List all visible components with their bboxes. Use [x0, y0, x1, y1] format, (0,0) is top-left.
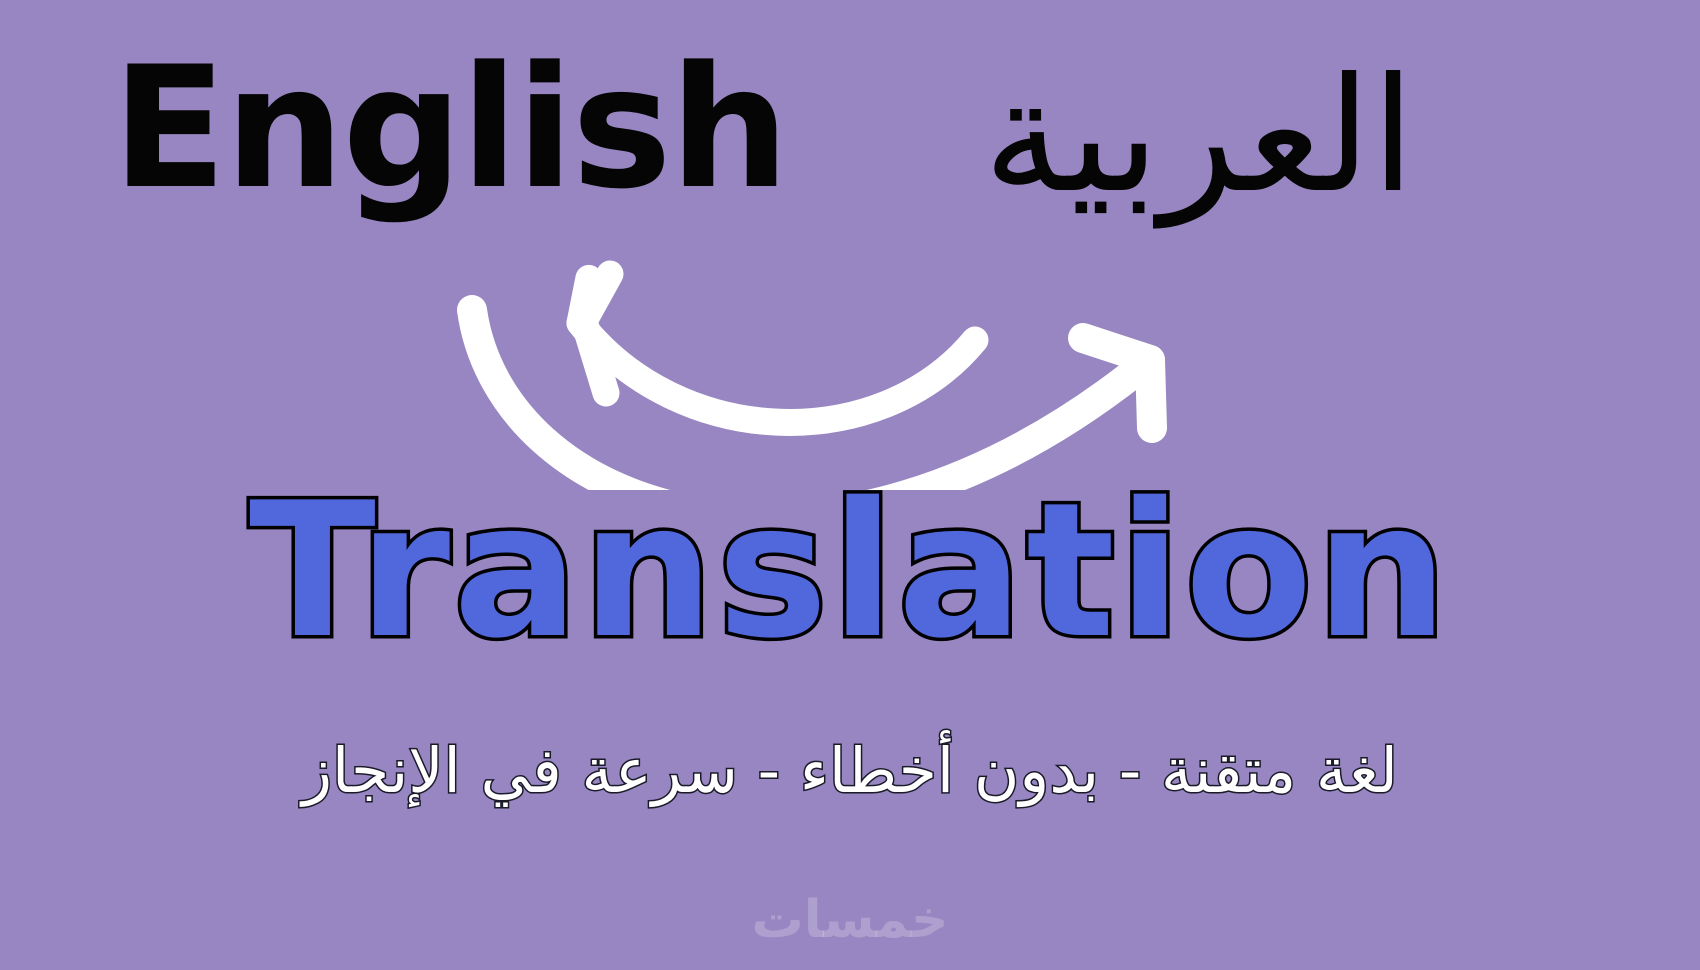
source-language-label: English [112, 44, 787, 212]
watermark-container: خمسات [0, 890, 1700, 950]
translation-wordmark: Translation [249, 478, 1451, 664]
banner-canvas: English العربية Translation لغة متقنة - … [0, 0, 1700, 970]
service-tagline: لغة متقنة - بدون أخطاء - سرعة في الإنجاز [302, 735, 1398, 806]
language-pair-row: English العربية [0, 44, 1700, 254]
curved-arrow-left-path [574, 278, 975, 422]
tagline-container: لغة متقنة - بدون أخطاء - سرعة في الإنجاز [0, 735, 1700, 806]
target-language-label: العربية [983, 54, 1415, 220]
wordmark-container: Translation [0, 478, 1700, 688]
khamsat-watermark: خمسات [751, 890, 948, 950]
translation-arrows [0, 230, 1700, 490]
